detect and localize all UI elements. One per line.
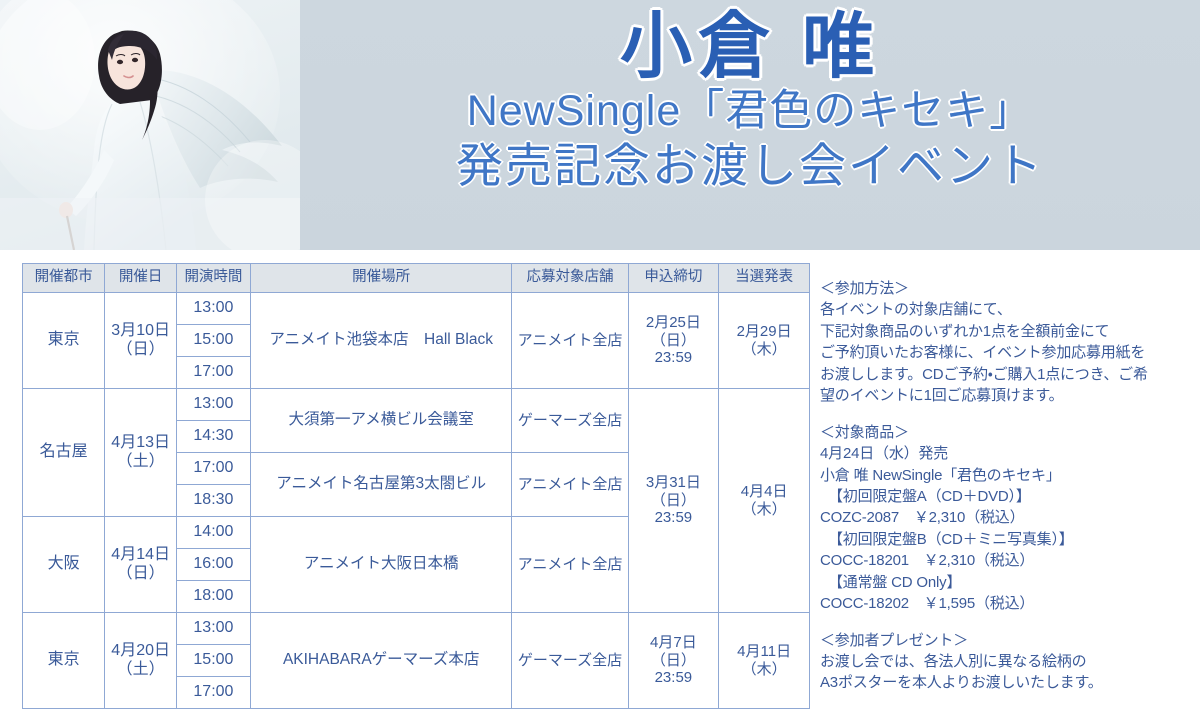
cell-time: 13:00	[177, 613, 251, 645]
th-date: 開催日	[105, 264, 177, 293]
artist-photo-illustration	[0, 0, 300, 250]
th-city: 開催都市	[23, 264, 105, 293]
cell-time: 16:00	[177, 549, 251, 581]
table-row: 東京4月20日（土）13:00AKIHABARAゲーマーズ本店ゲーマーズ全店4月…	[23, 613, 810, 645]
date-weekday: （日）	[108, 565, 173, 584]
note-present-heading: ＜参加者プレゼント＞	[820, 630, 1195, 651]
cell-deadline: 4月7日（日）23:59	[628, 613, 719, 709]
cell-venue: アニメイト名古屋第3太閤ビル	[250, 453, 512, 517]
cell-shop: アニメイト全店	[512, 453, 628, 517]
th-shop: 応募対象店舗	[512, 264, 628, 293]
cell-venue: AKIHABARAゲーマーズ本店	[250, 613, 512, 709]
note-line: ご予約頂いたお客様に、イベント参加応募用紙を	[820, 342, 1195, 363]
date-weekday: （土）	[108, 661, 173, 680]
cell-shop: アニメイト全店	[512, 293, 628, 389]
table-row: 東京3月10日（日）13:00アニメイト池袋本店 Hall Blackアニメイト…	[23, 293, 810, 325]
note-line: 【初回限定盤A（CD＋DVD）】	[820, 486, 1195, 507]
cell-deadline: 3月31日（日）23:59	[628, 389, 719, 613]
note-products-heading: ＜対象商品＞	[820, 422, 1195, 443]
deadline-line: 23:59	[632, 509, 716, 527]
result-line: （木）	[722, 661, 806, 679]
title-block: 小倉 唯 NewSingle「君色のキセキ」 発売記念お渡し会イベント	[300, 4, 1200, 195]
th-deadline: 申込締切	[628, 264, 719, 293]
cell-venue: アニメイト池袋本店 Hall Black	[250, 293, 512, 389]
event-title: 発売記念お渡し会イベント	[300, 137, 1200, 194]
deadline-line: 3月31日	[632, 474, 716, 492]
note-line: COCC-18201 ￥2,310（税込）	[820, 550, 1195, 571]
deadline-line: 2月25日	[632, 314, 716, 332]
table-header-row: 開催都市 開催日 開演時間 開催場所 応募対象店舗 申込締切 当選発表	[23, 264, 810, 293]
th-result: 当選発表	[719, 264, 810, 293]
cell-city: 大阪	[23, 517, 105, 613]
date-weekday: （日）	[108, 341, 173, 360]
note-line: お渡し会では、各法人別に異なる絵柄の	[820, 651, 1195, 672]
deadline-line: 23:59	[632, 669, 716, 687]
content-area: 開催都市 開催日 開演時間 開催場所 応募対象店舗 申込締切 当選発表 東京3月…	[0, 250, 1200, 674]
th-venue: 開催場所	[250, 264, 512, 293]
deadline-line: （日）	[632, 332, 716, 350]
cell-date: 4月13日（土）	[105, 389, 177, 517]
result-line: （木）	[722, 501, 806, 519]
deadline-line: （日）	[632, 492, 716, 510]
cell-city: 東京	[23, 293, 105, 389]
table-row: 名古屋4月13日（土）13:00大須第一アメ横ビル会議室ゲーマーズ全店3月31日…	[23, 389, 810, 421]
cell-result: 4月4日（木）	[719, 389, 810, 613]
note-line: 小倉 唯 NewSingle「君色のキセキ」	[820, 465, 1195, 486]
cell-date: 4月14日（日）	[105, 517, 177, 613]
note-line: 【初回限定盤B（CD＋ミニ写真集）】	[820, 529, 1195, 550]
date-line: 3月10日	[108, 322, 173, 341]
note-line: COZC-2087 ￥2,310（税込）	[820, 507, 1195, 528]
date-line: 4月14日	[108, 546, 173, 565]
cell-result: 4月11日（木）	[719, 613, 810, 709]
cell-time: 18:30	[177, 485, 251, 517]
note-line: 各イベントの対象店舗にて、	[820, 299, 1195, 320]
schedule-table: 開催都市 開催日 開演時間 開催場所 応募対象店舗 申込締切 当選発表 東京3月…	[22, 263, 810, 709]
schedule-table-body: 東京3月10日（日）13:00アニメイト池袋本店 Hall Blackアニメイト…	[23, 293, 810, 709]
note-line: A3ポスターを本人よりお渡しいたします。	[820, 672, 1195, 693]
header-band: 小倉 唯 NewSingle「君色のキセキ」 発売記念お渡し会イベント	[0, 0, 1200, 250]
th-time: 開演時間	[177, 264, 251, 293]
cell-time: 15:00	[177, 325, 251, 357]
cell-city: 名古屋	[23, 389, 105, 517]
cell-date: 4月20日（土）	[105, 613, 177, 709]
cell-time: 14:30	[177, 421, 251, 453]
note-line: COCC-18202 ￥1,595（税込）	[820, 593, 1195, 614]
result-line: （木）	[722, 341, 806, 359]
cell-result: 2月29日（木）	[719, 293, 810, 389]
cell-time: 13:00	[177, 389, 251, 421]
artist-name: 小倉 唯	[300, 4, 1200, 85]
cell-date: 3月10日（日）	[105, 293, 177, 389]
cell-time: 17:00	[177, 453, 251, 485]
cell-time: 17:00	[177, 357, 251, 389]
note-line: 下記対象商品のいずれか1点を全額前金にて	[820, 321, 1195, 342]
artist-photo	[0, 0, 300, 250]
cell-time: 14:00	[177, 517, 251, 549]
date-line: 4月13日	[108, 434, 173, 453]
deadline-line: 23:59	[632, 349, 716, 367]
cell-city: 東京	[23, 613, 105, 709]
cell-shop: アニメイト全店	[512, 517, 628, 613]
note-line: 4月24日（水）発売	[820, 443, 1195, 464]
deadline-line: 4月7日	[632, 634, 716, 652]
note-how-to-join: ＜参加方法＞ 各イベントの対象店舗にて、 下記対象商品のいずれか1点を全額前金に…	[820, 278, 1195, 407]
schedule-table-head: 開催都市 開催日 開演時間 開催場所 応募対象店舗 申込締切 当選発表	[23, 264, 810, 293]
note-present: ＜参加者プレゼント＞ お渡し会では、各法人別に異なる絵柄の A3ポスターを本人よ…	[820, 630, 1195, 694]
cell-shop: ゲーマーズ全店	[512, 389, 628, 453]
cell-deadline: 2月25日（日）23:59	[628, 293, 719, 389]
note-how-to-join-heading: ＜参加方法＞	[820, 278, 1195, 299]
note-products: ＜対象商品＞ 4月24日（水）発売 小倉 唯 NewSingle「君色のキセキ」…	[820, 422, 1195, 615]
cell-time: 18:00	[177, 581, 251, 613]
result-line: 4月11日	[722, 643, 806, 661]
cell-time: 17:00	[177, 677, 251, 709]
single-title: NewSingle「君色のキセキ」	[300, 85, 1200, 137]
deadline-line: （日）	[632, 652, 716, 670]
cell-shop: ゲーマーズ全店	[512, 613, 628, 709]
cell-time: 15:00	[177, 645, 251, 677]
cell-venue: 大須第一アメ横ビル会議室	[250, 389, 512, 453]
date-line: 4月20日	[108, 642, 173, 661]
result-line: 4月4日	[722, 483, 806, 501]
date-weekday: （土）	[108, 453, 173, 472]
cell-venue: アニメイト大阪日本橋	[250, 517, 512, 613]
note-line: 望のイベントに1回ご応募頂けます。	[820, 385, 1195, 406]
notes-panel: ＜参加方法＞ 各イベントの対象店舗にて、 下記対象商品のいずれか1点を全額前金に…	[820, 278, 1195, 694]
note-line: 【通常盤 CD Only】	[820, 572, 1195, 593]
cell-time: 13:00	[177, 293, 251, 325]
schedule-table-wrapper: 開催都市 開催日 開演時間 開催場所 応募対象店舗 申込締切 当選発表 東京3月…	[22, 263, 810, 709]
note-line: お渡しします。CDご予約・ご購入1点につき、ご希	[820, 364, 1195, 385]
result-line: 2月29日	[722, 323, 806, 341]
